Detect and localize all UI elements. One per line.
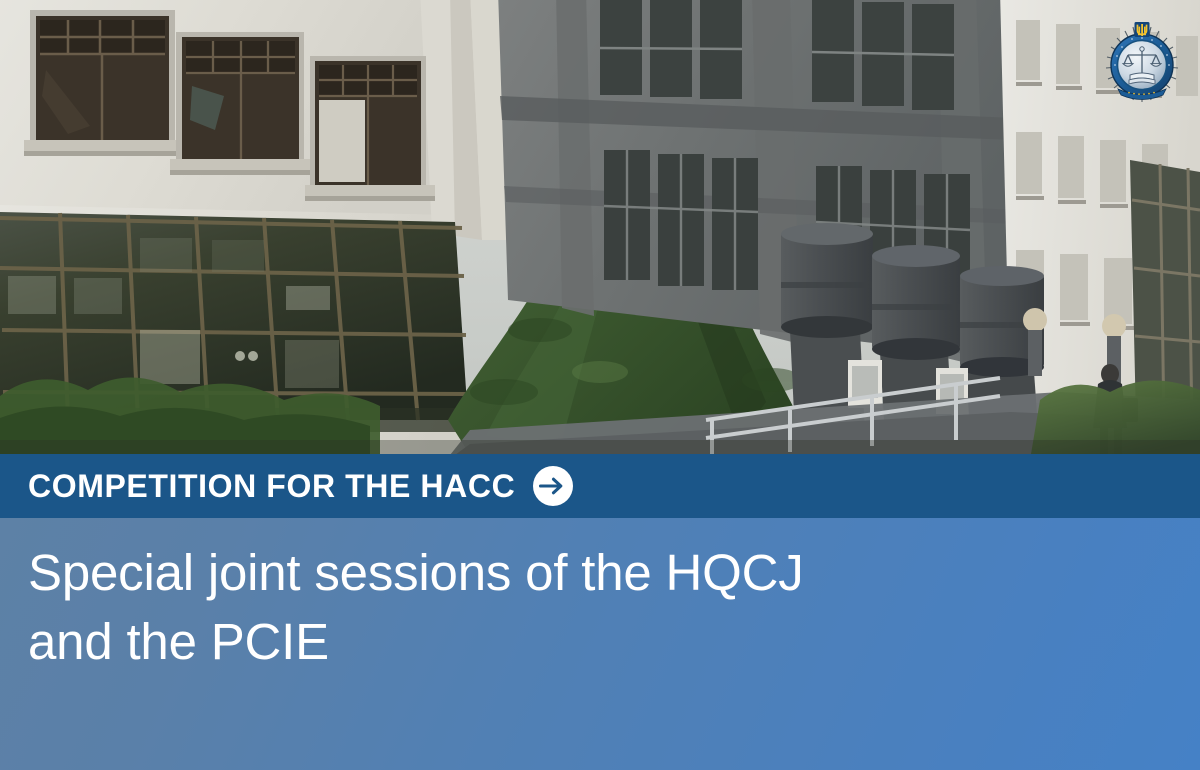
page-title-line-2: and the PCIE	[28, 607, 1140, 676]
page-title-line-1: Special joint sessions of the HQCJ	[28, 538, 1140, 607]
kicker-bar[interactable]: COMPETITION FOR THE HACC	[0, 454, 1200, 518]
page-title: Special joint sessions of the HQCJ and t…	[28, 538, 1140, 677]
kicker-label: COMPETITION FOR THE HACC	[28, 470, 515, 502]
hqcj-seal-emblem-icon	[1098, 17, 1186, 105]
announcement-card: COMPETITION FOR THE HACC Special joint s…	[0, 0, 1200, 770]
court-building-photo	[0, 0, 1200, 455]
arrow-right-circle-icon[interactable]	[532, 465, 574, 507]
title-panel: Special joint sessions of the HQCJ and t…	[0, 518, 1200, 770]
